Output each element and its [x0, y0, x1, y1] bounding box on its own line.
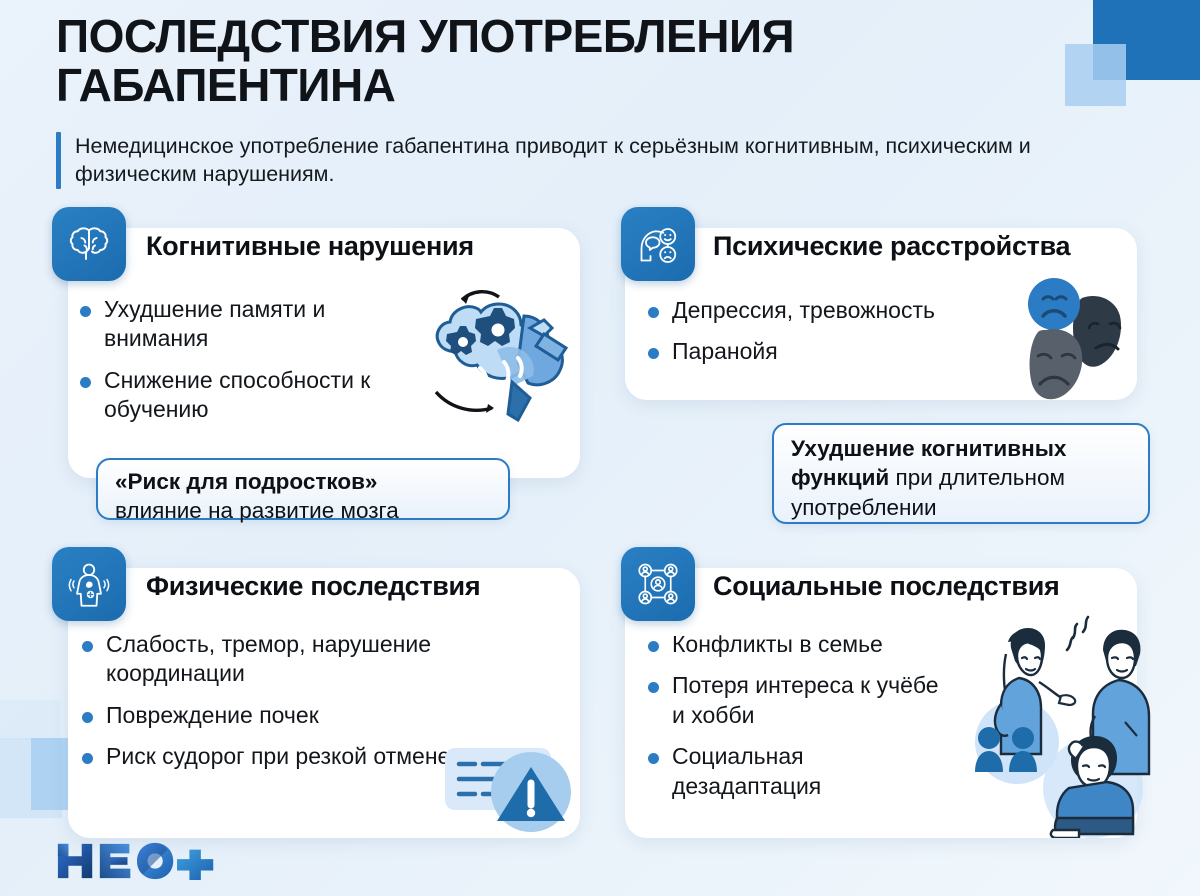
logo-icon — [56, 840, 218, 882]
bullet-text: Потеря интереса к учёбе и хобби — [672, 671, 953, 730]
card-title-physical: Физические последствия — [146, 571, 480, 602]
callout-teen-risk-text: «Риск для подростков» влияние на развити… — [115, 467, 491, 526]
bullet-dot — [82, 753, 93, 764]
decor-square-bottom-left-mid — [31, 738, 71, 810]
list-item: Потеря интереса к учёбе и хобби — [648, 671, 953, 730]
bullet-text: Риск судорог при резкой отмене — [106, 742, 450, 771]
bullet-text: Слабость, тремор, нарушение координации — [106, 630, 477, 689]
bullets-social: Конфликты в семье Потеря интереса к учёб… — [648, 630, 953, 813]
bullet-text: Ухудшение памяти и внимания — [104, 295, 410, 354]
bullet-dot — [82, 712, 93, 723]
subtitle-accent-bar — [56, 132, 61, 190]
bullet-dot — [648, 753, 659, 764]
callout-long-term: Ухудшение когнитивных функций при длител… — [772, 423, 1150, 524]
list-item: Социальная дезадаптация — [648, 742, 953, 801]
list-item: Снижение способности к обучению — [80, 366, 410, 425]
callout-teen-risk: «Риск для подростков» влияние на развити… — [96, 458, 510, 520]
card-title-mental: Психические расстройства — [713, 231, 1070, 262]
list-item: Конфликты в семье — [648, 630, 953, 659]
bullets-physical: Слабость, тремор, нарушение координации … — [82, 630, 477, 784]
bullet-dot — [80, 306, 91, 317]
decor-square-bottom-left-pale — [0, 700, 60, 740]
people-network-icon — [621, 547, 695, 621]
bullet-text: Снижение способности к обучению — [104, 366, 410, 425]
list-item: Ухудшение памяти и внимания — [80, 295, 410, 354]
logo-neo-plus — [56, 840, 218, 882]
body-tremor-icon — [52, 547, 126, 621]
page-title: ПОСЛЕДСТВИЯ УПОТРЕБЛЕНИЯ ГАБАПЕНТИНА — [56, 12, 1066, 110]
bullet-dot — [648, 682, 659, 693]
decor-square-bottom-left-light — [0, 738, 62, 818]
bullet-dot — [648, 348, 659, 359]
bullet-text: Паранойя — [672, 337, 778, 366]
callout-long-term-text: Ухудшение когнитивных функций при длител… — [791, 434, 1131, 522]
bullet-dot — [82, 641, 93, 652]
bullet-text: Повреждение почек — [106, 701, 319, 730]
bullet-dot — [80, 377, 91, 388]
bullets-mental: Депрессия, тревожность Паранойя — [648, 296, 1048, 379]
header: ПОСЛЕДСТВИЯ УПОТРЕБЛЕНИЯ ГАБАПЕНТИНА Нем… — [56, 12, 1066, 189]
list-item: Слабость, тремор, нарушение координации — [82, 630, 477, 689]
bullet-text: Депрессия, тревожность — [672, 296, 935, 325]
callout-teen-risk-bold: «Риск для подростков» — [115, 469, 377, 494]
brain-icon — [52, 207, 126, 281]
card-title-social: Социальные последствия — [713, 571, 1059, 602]
bullet-dot — [648, 641, 659, 652]
decor-square-top-right-light — [1065, 44, 1126, 106]
subtitle-block: Немедицинское употребление габапентина п… — [56, 132, 1066, 190]
bullet-dot — [648, 307, 659, 318]
list-item: Риск судорог при резкой отмене — [82, 742, 477, 771]
card-title-cognitive: Когнитивные нарушения — [146, 231, 474, 262]
bullets-cognitive: Ухудшение памяти и внимания Снижение спо… — [80, 295, 410, 437]
bullet-text: Социальная дезадаптация — [672, 742, 953, 801]
page-subtitle: Немедицинское употребление габапентина п… — [75, 132, 1035, 190]
list-item: Паранойя — [648, 337, 1048, 366]
decor-square-top-right-dark — [1093, 0, 1200, 80]
callout-teen-risk-rest: влияние на развитие мозга — [115, 498, 399, 523]
bullet-text: Конфликты в семье — [672, 630, 883, 659]
head-emotions-icon — [621, 207, 695, 281]
list-item: Депрессия, тревожность — [648, 296, 1048, 325]
list-item: Повреждение почек — [82, 701, 477, 730]
